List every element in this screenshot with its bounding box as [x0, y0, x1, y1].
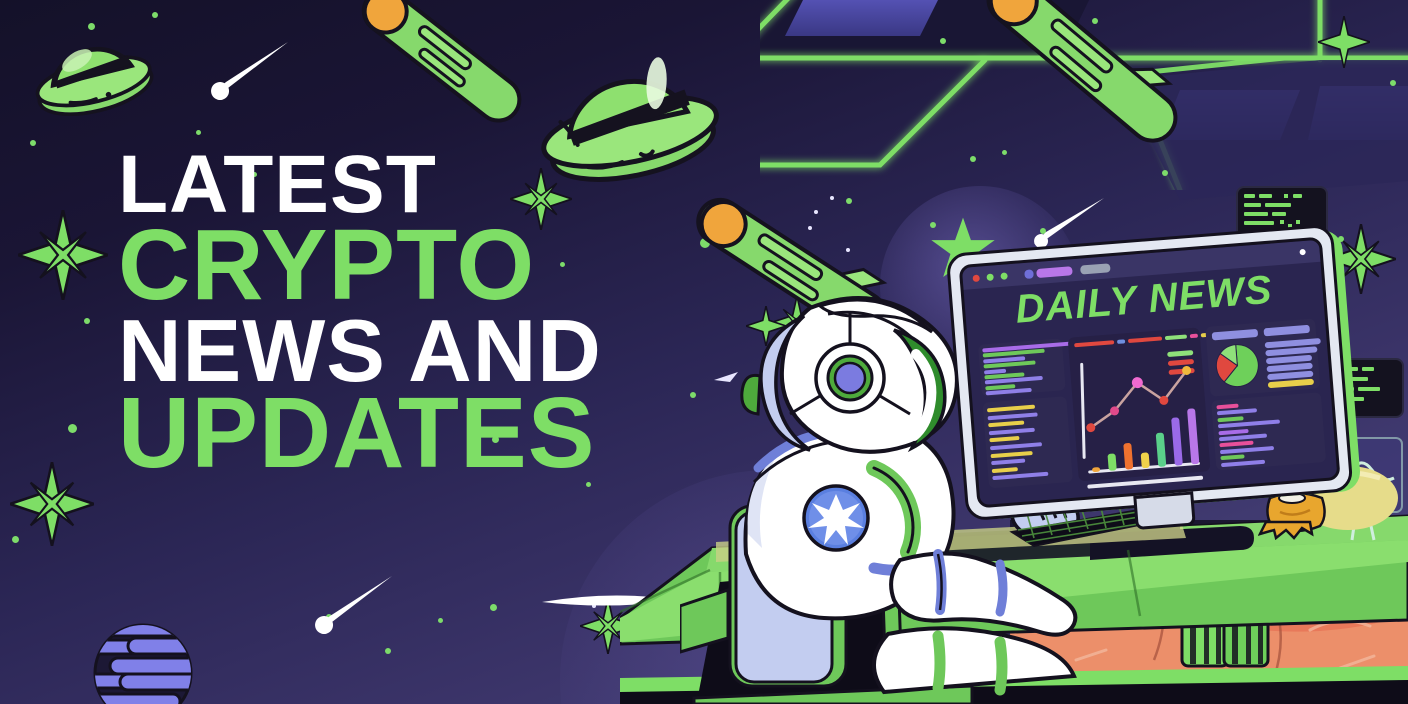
sparkle-star	[10, 462, 94, 546]
bar-chart-bar	[1141, 452, 1150, 468]
poster-canvas: LATEST CRYPTO NEWS AND UPDATES	[0, 0, 1408, 704]
star-dot	[1002, 150, 1007, 155]
sparkle-star	[18, 210, 108, 300]
bar-chart-bar	[1107, 453, 1116, 471]
bar-chart-bar	[1187, 408, 1199, 464]
rocket-icon	[950, 0, 1220, 146]
bar-chart-bar	[1156, 432, 1167, 467]
rocket-icon	[326, 0, 556, 126]
monitor-inner-bezel: DAILY NEWS	[959, 237, 1341, 509]
headline-line-2: CRYPTO	[118, 218, 602, 313]
star-dot	[940, 38, 946, 44]
daily-news-monitor[interactable]: DAILY NEWS	[946, 223, 1367, 532]
ufo-small-icon	[28, 26, 158, 131]
headline-block: LATEST CRYPTO NEWS AND UPDATES	[118, 146, 602, 481]
star-dot	[196, 130, 201, 135]
bar-chart-bar	[1092, 467, 1100, 472]
monitor-stand	[1133, 491, 1195, 530]
star-dot	[970, 156, 976, 162]
shooting-star-icon	[300, 572, 400, 642]
star-dot	[152, 12, 158, 18]
star-dot	[84, 318, 90, 324]
star-dot	[385, 648, 391, 654]
bar-chart	[1083, 398, 1204, 473]
star-dot	[1162, 170, 1168, 176]
star-dot	[490, 604, 497, 611]
planet-banded-icon	[88, 618, 198, 704]
star-dot	[1390, 80, 1396, 86]
star-dot	[68, 424, 77, 433]
headline-line-4: UPDATES	[118, 386, 602, 481]
pie-chart	[1213, 341, 1262, 390]
bar-chart-bar	[1123, 443, 1133, 470]
chart-marker	[1190, 334, 1198, 339]
star-dot	[438, 618, 443, 623]
chart-marker	[1117, 339, 1125, 344]
sparkle-star	[1318, 16, 1370, 68]
bar-chart-bar	[1171, 417, 1183, 466]
shooting-star-icon	[196, 38, 296, 108]
star-dot	[690, 392, 696, 398]
star-dot	[30, 140, 36, 146]
